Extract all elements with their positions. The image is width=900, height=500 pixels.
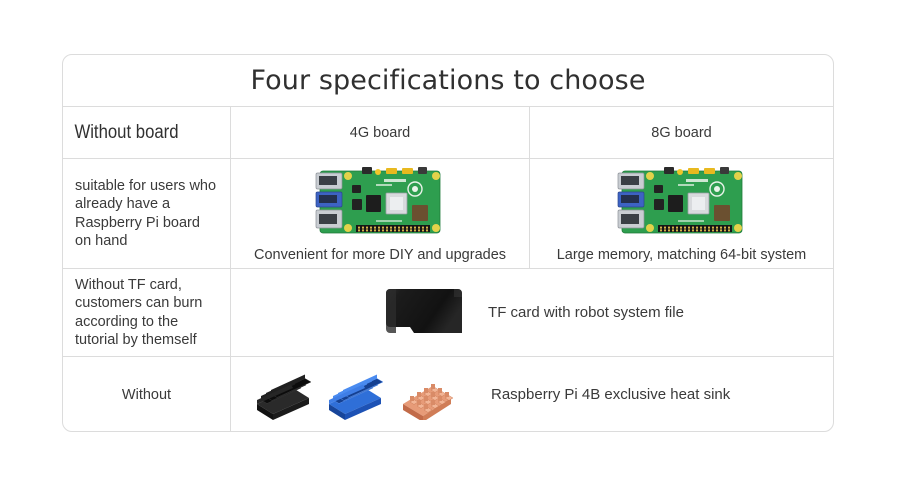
tf-row-content-cell: TF card with robot system file (231, 269, 833, 356)
heat-sink-row-content-cell: Raspberry Pi 4B exclusive heat sink (231, 357, 833, 432)
heat-sink-row-left-cell: Without (63, 357, 231, 432)
header-label-without-board: Without board (63, 122, 179, 144)
heat-sink-black-image (253, 370, 313, 420)
header-cell-4g-board: 4G board (231, 107, 530, 158)
table-row: Without TF card, customers can burn acco… (63, 269, 833, 357)
board-8g-caption: Large memory, matching 64-bit system (557, 247, 807, 268)
table-title-row: Four specifications to choose (63, 55, 833, 107)
header-cell-without-board: Without board (63, 107, 231, 158)
board-row-left-cell: suitable for users who already have a Ra… (63, 159, 231, 268)
board-row-8g-cell: Large memory, matching 64-bit system (530, 159, 833, 268)
heat-sink-row-note: Without (63, 387, 230, 403)
raspberry-pi-4b-board-image (314, 165, 446, 241)
header-cell-8g-board: 8G board (530, 107, 833, 158)
raspberry-pi-4b-board-image (616, 165, 748, 241)
heat-sink-blue-image (325, 370, 385, 420)
tf-card-image (380, 285, 466, 341)
board-row-4g-cell: Convenient for more DIY and upgrades (231, 159, 530, 268)
board-row-note: suitable for users who already have a Ra… (63, 177, 230, 251)
page-title: Four specifications to choose (250, 65, 645, 96)
header-label-4g-board: 4G board (231, 107, 529, 158)
table-row: suitable for users who already have a Ra… (63, 159, 833, 269)
table-row: Without (63, 357, 833, 432)
heat-sink-caption: Raspberry Pi 4B exclusive heat sink (491, 386, 730, 403)
tf-row-left-cell: Without TF card, customers can burn acco… (63, 269, 231, 356)
heat-sink-copper-image (397, 370, 457, 420)
board-4g-caption: Convenient for more DIY and upgrades (254, 247, 506, 268)
tf-card-caption: TF card with robot system file (488, 304, 684, 321)
table-header-row: Without board 4G board 8G board (63, 107, 833, 159)
specifications-table: Four specifications to choose Without bo… (62, 54, 834, 432)
tf-row-note: Without TF card, customers can burn acco… (63, 276, 230, 350)
header-label-8g-board: 8G board (530, 107, 833, 158)
